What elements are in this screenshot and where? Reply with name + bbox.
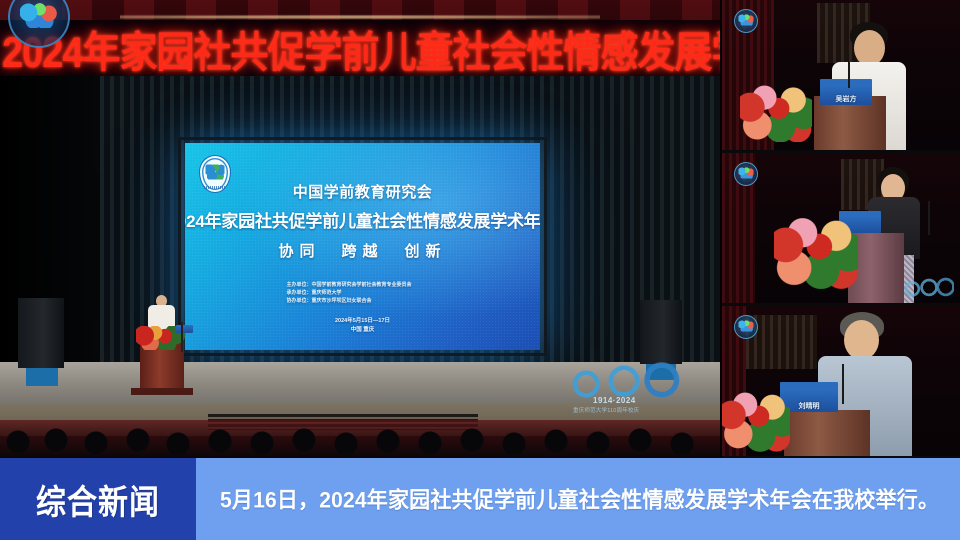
screen-date-block: 2024年5月15日—17日 中国 重庆 [335,317,390,335]
news-headline-text: 5月16日，2024年家园社共促学前儿童社会性情感发展学术年会在我校举行。 [220,483,939,515]
photo3-speaker-head [844,320,879,360]
presentation-screen: 中国学前教育研究会 2024年家园社共促学前儿童社会性情感发展学术年会 协同 跨… [185,143,540,350]
led-headline-text: 2024年家园社共促学前儿童社会性情感发展学术年会 [0,20,720,76]
anniversary-logo-icon: 1914·2024 重庆师范大学110周年校庆 [565,358,683,420]
photo3-placard-name: 刘晴明 [799,402,820,412]
photo1-microphone [848,62,850,88]
photo1-flower-arrangement [740,82,812,142]
screen-coorganizer-line: 协办单位：重庆市沙坪坝区妇女联合会 [287,297,439,305]
loudspeaker-left [18,298,64,368]
anniversary-wave-mark [565,358,683,400]
side-photo-column: 吴岩方 [722,0,960,458]
photo2-emblem-icon [734,162,758,186]
speaker-photo-3: 刘晴明 [722,306,960,456]
news-headline-area: 5月16日，2024年家园社共促学前儿童社会性情感发展学术年会在我校举行。 [196,458,960,540]
microphone-stand [181,322,183,352]
main-photo-auditorium: 2024年家园社共促学前儿童社会性情感发展学术年会 中国学前教育研究会 2024… [0,0,720,458]
anniversary-years: 1914·2024 [593,396,636,405]
photo2-microphone [928,201,930,235]
screen-host-line: 主办单位：中国学前教育研究会学前社会教育专业委员会 [287,281,439,289]
screen-conference-title: 2024年家园社共促学前儿童社会性情感发展学术年会 [185,207,540,232]
screen-date-line: 2024年5月15日—17日 [335,317,390,326]
screen-organizer-line: 承办单位：重庆师范大学 [287,289,439,297]
screen-location-line: 中国 重庆 [335,326,390,335]
news-banner: 综合新闻 5月16日，2024年家园社共促学前儿童社会性情感发展学术年会在我校举… [0,458,960,540]
broadcast-frame: 2024年家园社共促学前儿童社会性情感发展学术年会 中国学前教育研究会 2024… [0,0,960,540]
anniversary-caption: 重庆师范大学110周年校庆 [573,406,639,414]
photo3-microphone [842,364,844,404]
photo3-emblem-icon [734,315,758,339]
photo1-name-placard: 吴岩方 [820,79,872,105]
podium-name-placard [176,325,193,333]
screen-organizer-block: 主办单位：中国学前教育研究会学前社会教育专业委员会 承办单位：重庆师范大学 协办… [287,281,439,305]
presentation-screen-content: 中国学前教育研究会 2024年家园社共促学前儿童社会性情感发展学术年会 协同 跨… [185,143,540,350]
photo1-speaker-head [854,30,885,66]
screen-slogan: 协同 跨越 创新 [278,240,446,261]
loudspeaker-right [640,300,682,364]
news-category-label: 综合新闻 [36,474,160,524]
photo2-anniversary-watermark-icon [902,274,954,298]
audience-silhouettes [0,418,720,458]
photo1-placard-name: 吴岩方 [836,95,857,105]
photo1-emblem-icon [734,9,758,33]
speaker-photo-1: 吴岩方 [722,0,960,150]
photo2-flower-arrangement [774,213,858,289]
news-category-tag: 综合新闻 [0,458,196,540]
photo3-flower-arrangement [722,388,790,452]
screen-organization: 中国学前教育研究会 [293,181,433,202]
podium-base [131,388,193,395]
photo3-podium [784,410,870,456]
speaker-photo-2 [722,153,960,303]
led-headline-banner: 2024年家园社共促学前儿童社会性情感发展学术年会 [0,20,720,76]
loudspeaker-left-stand [26,368,58,386]
